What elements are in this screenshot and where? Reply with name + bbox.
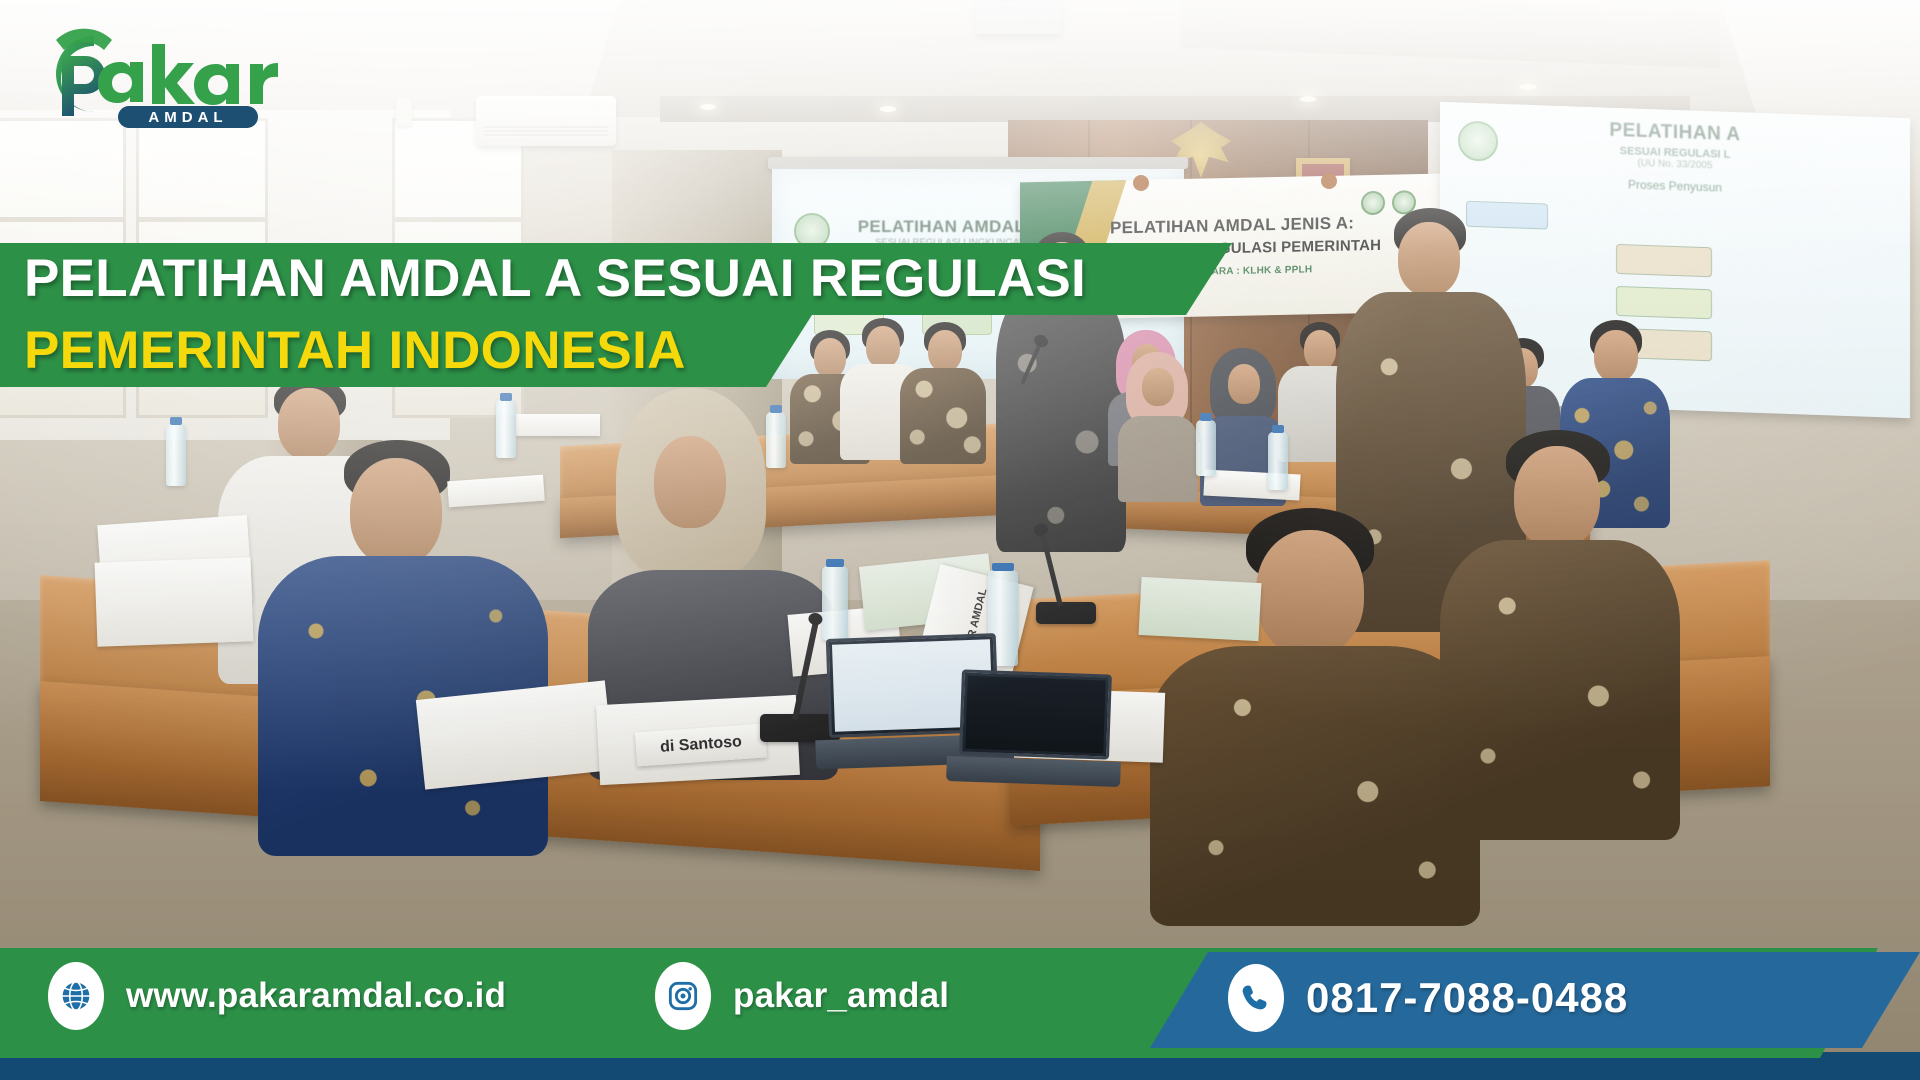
wall-sensor <box>396 98 412 126</box>
contact-footer: www.pakaramdal.co.id pakar_amdal 0817-70… <box>0 948 1920 1080</box>
participant-foreground-right <box>1150 508 1480 908</box>
meeting-room-photo: PELATIHAN AMDAL JENIS A SESUAI REGULASI … <box>0 0 1920 1080</box>
projection-screen-roller <box>768 157 1188 169</box>
pakar-amdal-logo[interactable]: AMDAL <box>26 26 326 131</box>
instagram-icon <box>655 962 711 1030</box>
document <box>1139 577 1262 641</box>
laptop <box>958 669 1112 786</box>
downlight <box>1520 84 1536 90</box>
headline-line-2: PEMERINTAH INDONESIA <box>0 315 812 387</box>
headline-block: PELATIHAN AMDAL A SESUAI REGULASI PEMERI… <box>0 243 1232 387</box>
document <box>95 557 254 646</box>
logo-amdal-text: AMDAL <box>148 109 227 126</box>
headline-line-1: PELATIHAN AMDAL A SESUAI REGULASI <box>0 243 1232 315</box>
downlight <box>700 104 716 110</box>
footer-website[interactable]: www.pakaramdal.co.id <box>48 962 506 1030</box>
water-bottle <box>1268 432 1288 490</box>
phone-icon <box>1228 964 1284 1032</box>
ceiling-projector <box>975 0 1061 34</box>
water-bottle <box>496 400 516 458</box>
footer-instagram[interactable]: pakar_amdal <box>655 962 949 1030</box>
right-banner-logo-icon <box>1458 120 1498 161</box>
participant-far-right-foreground <box>1440 430 1680 830</box>
nameplate <box>516 414 600 436</box>
footer-phone[interactable]: 0817-7088-0488 <box>1228 964 1628 1032</box>
water-bottle <box>1196 420 1216 476</box>
globe-icon <box>48 962 104 1030</box>
water-bottle <box>166 424 186 486</box>
logo-swoosh-icon <box>56 36 94 112</box>
instagram-label: pakar_amdal <box>733 976 949 1016</box>
downlight <box>1300 96 1316 102</box>
water-bottle <box>766 412 786 468</box>
air-conditioner <box>476 96 616 146</box>
water-bottle <box>822 566 848 640</box>
microphone-base <box>1036 602 1096 624</box>
downlight <box>880 106 896 112</box>
phone-label: 0817-7088-0488 <box>1306 974 1628 1022</box>
logo-wordmark <box>98 44 278 105</box>
promo-poster: PELATIHAN AMDAL JENIS A SESUAI REGULASI … <box>0 0 1920 1080</box>
website-label: www.pakaramdal.co.id <box>126 976 506 1016</box>
